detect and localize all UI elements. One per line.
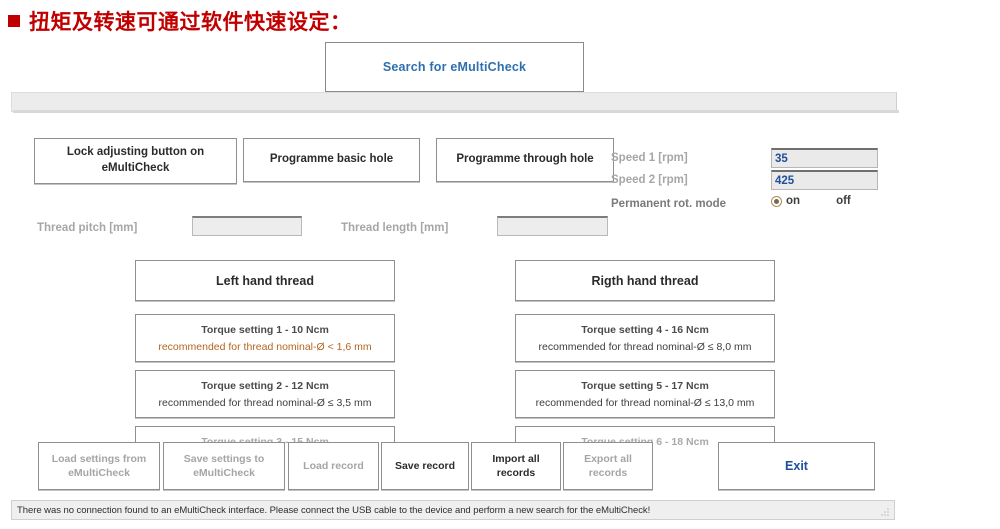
programme-through-hole-button[interactable]: Programme through hole xyxy=(436,138,614,182)
save-record-button[interactable]: Save record xyxy=(381,442,469,490)
programme-basic-hole-label: Programme basic hole xyxy=(270,152,393,168)
status-bar: There was no connection found to an eMul… xyxy=(11,500,895,520)
search-for-emulticheck-button[interactable]: Search for eMultiCheck xyxy=(325,42,584,92)
permanent-rot-mode-label: Permanent rot. mode xyxy=(611,198,726,210)
speed-1-label: Speed 1 [rpm] xyxy=(611,152,688,164)
load-settings-label: Load settings from eMultiCheck xyxy=(39,452,159,480)
speed-2-input[interactable] xyxy=(771,170,878,190)
import-all-records-button[interactable]: Import all records xyxy=(471,442,561,490)
exit-label: Exit xyxy=(785,458,808,475)
resize-grip-icon[interactable] xyxy=(880,507,890,517)
thread-pitch-label: Thread pitch [mm] xyxy=(37,222,137,234)
radio-on-icon[interactable] xyxy=(771,196,782,207)
right-hand-thread-label: Rigth hand thread xyxy=(592,274,699,288)
rot-mode-off-label[interactable]: off xyxy=(836,195,851,207)
torque-setting-2-subtitle: recommended for thread nominal-Ø ≤ 3,5 m… xyxy=(159,397,372,409)
torque-setting-2-title: Torque setting 2 - 12 Ncm xyxy=(201,380,329,392)
speed-1-input[interactable] xyxy=(771,148,878,168)
export-all-records-label: Export all records xyxy=(564,452,652,480)
save-settings-label: Save settings to eMultiCheck xyxy=(164,452,284,480)
toolbar-strip-shadow xyxy=(13,110,899,113)
torque-setting-1-box[interactable]: Torque setting 1 - 10 Ncm recommended fo… xyxy=(135,314,395,362)
thread-length-input[interactable] xyxy=(497,216,608,236)
torque-setting-4-box[interactable]: Torque setting 4 - 16 Ncm recommended fo… xyxy=(515,314,775,362)
load-record-button[interactable]: Load record xyxy=(288,442,379,490)
permanent-rot-mode-radio-group: on off xyxy=(771,195,851,207)
torque-setting-4-title: Torque setting 4 - 16 Ncm xyxy=(581,324,709,336)
torque-setting-5-subtitle: recommended for thread nominal-Ø ≤ 13,0 … xyxy=(536,397,755,409)
slide-heading-text: 扭矩及转速可通过软件快速设定： xyxy=(29,6,352,36)
programme-basic-hole-button[interactable]: Programme basic hole xyxy=(243,138,420,182)
status-message: There was no connection found to an eMul… xyxy=(17,505,650,516)
import-all-records-label: Import all records xyxy=(472,452,560,480)
torque-setting-1-title: Torque setting 1 - 10 Ncm xyxy=(201,324,329,336)
save-settings-to-emulticheck-button[interactable]: Save settings to eMultiCheck xyxy=(163,442,285,490)
exit-button[interactable]: Exit xyxy=(718,442,875,490)
export-all-records-button[interactable]: Export all records xyxy=(563,442,653,490)
torque-setting-2-box[interactable]: Torque setting 2 - 12 Ncm recommended fo… xyxy=(135,370,395,418)
torque-setting-1-subtitle: recommended for thread nominal-Ø < 1,6 m… xyxy=(158,341,371,353)
main-settings-panel: Lock adjusting button on eMultiCheck Pro… xyxy=(11,114,899,453)
thread-length-label: Thread length [mm] xyxy=(341,222,448,234)
bottom-action-row: Load settings from eMultiCheck Save sett… xyxy=(0,442,1000,500)
thread-pitch-input[interactable] xyxy=(192,216,302,236)
rot-mode-on-label[interactable]: on xyxy=(786,195,800,207)
emulticheck-app-window: Search for eMultiCheck Lock adjusting bu… xyxy=(0,36,1000,529)
right-hand-thread-header[interactable]: Rigth hand thread xyxy=(515,260,775,301)
search-button-label: Search for eMultiCheck xyxy=(383,60,526,74)
save-record-label: Save record xyxy=(395,459,455,473)
speed-2-label: Speed 2 [rpm] xyxy=(611,174,688,186)
load-settings-from-emulticheck-button[interactable]: Load settings from eMultiCheck xyxy=(38,442,160,490)
lock-adjusting-button-label: Lock adjusting button on eMultiCheck xyxy=(35,145,236,176)
torque-setting-5-box[interactable]: Torque setting 5 - 17 Ncm recommended fo… xyxy=(515,370,775,418)
toolbar-strip[interactable] xyxy=(11,92,897,112)
slide-heading: 扭矩及转速可通过软件快速设定： xyxy=(8,6,352,36)
torque-setting-5-title: Torque setting 5 - 17 Ncm xyxy=(581,380,709,392)
lock-adjusting-button-on-emulticheck-button[interactable]: Lock adjusting button on eMultiCheck xyxy=(34,138,237,184)
left-hand-thread-header[interactable]: Left hand thread xyxy=(135,260,395,301)
programme-through-hole-label: Programme through hole xyxy=(456,152,593,168)
left-hand-thread-label: Left hand thread xyxy=(216,274,314,288)
torque-setting-4-subtitle: recommended for thread nominal-Ø ≤ 8,0 m… xyxy=(539,341,752,353)
load-record-label: Load record xyxy=(303,459,364,473)
square-bullet-icon xyxy=(8,15,20,27)
